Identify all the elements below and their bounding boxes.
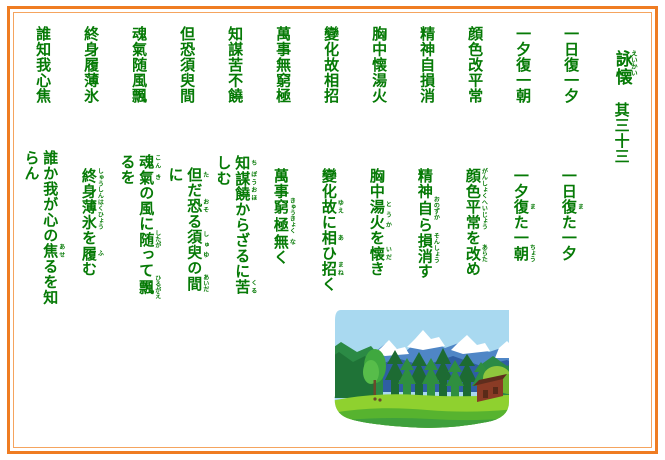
reading-text: るを (41, 259, 59, 290)
poem-line-column: 萬事無窮極萬事窮極きゅうきょく無なく (259, 16, 307, 306)
poem-line-reading: 精神自おのずから損消そんしょうす (415, 168, 439, 279)
reading-text: 萬事 (272, 168, 290, 199)
reading-text: って (137, 247, 155, 278)
poem-line-column: 精神自損消精神自おのずから損消そんしょうす (403, 16, 451, 306)
furigana: あせ (58, 243, 65, 259)
reading-text: る (185, 214, 203, 230)
poem-title-block: 詠懐 えいかい 其三十三 (595, 50, 647, 164)
reading-ruby-group: 魂こん (137, 154, 155, 170)
reading-text: く (272, 249, 290, 265)
furigana: おほ (250, 186, 257, 202)
poem-title: 詠懐 えいかい (611, 50, 631, 86)
furigana: まね (336, 261, 343, 277)
furigana: あいだ (202, 275, 209, 293)
reading-text: るを (119, 154, 137, 185)
poem-line-column: 一夕復一朝一夕復また一朝ちょう (499, 16, 547, 306)
furigana: きゅうきょく (288, 198, 295, 234)
poem-line-column: 終身履薄氷終身薄氷しゅうしんはくひょうを履ふむ (67, 16, 115, 306)
poem-line-original: 胸中懐湯火 (370, 26, 388, 136)
reading-text: からざるに (233, 202, 251, 280)
poem-line-original: 萬事無窮極 (274, 26, 292, 136)
poem-title-number: 其三十三 (612, 102, 629, 164)
poem-line-reading: 魂こん氣きの風に随したがって飄ひるがえるを (118, 154, 161, 306)
reading-text: を (368, 230, 386, 246)
reading-text: ひ (320, 246, 338, 262)
furigana: とうか (384, 199, 391, 230)
poem-line-reading: 顔色がんしょく平常へいじょうを改あらため (463, 168, 487, 277)
furigana: おのずか (432, 196, 439, 220)
poem-line-column: 顔色改平常顔色がんしょく平常へいじょうを改あらため (451, 16, 499, 306)
reading-text: 精神 (416, 168, 434, 199)
reading-text: た一夕 (560, 215, 578, 262)
poem-columns: 詠懐 えいかい 其三十三 一日復一夕一日復また一夕一夕復一朝一夕復また一朝ちょう… (16, 16, 649, 316)
poem-line-reading: 變化故ゆえに相あひ招まねく (319, 168, 343, 292)
poem-line-column: 一日復一夕一日復また一夕 (547, 16, 595, 306)
furigana: がんしょく (480, 168, 487, 199)
reading-text: 胸中 (368, 168, 386, 199)
reading-ruby-group: 顔色がんしょく (464, 168, 482, 199)
poem-line-reading: 終身薄氷しゅうしんはくひょうを履ふむ (79, 168, 103, 277)
furigana: おそ (202, 198, 209, 214)
poem-line-original: 知謀苦不饒 (226, 26, 244, 123)
poem-page: 詠懐 えいかい 其三十三 一日復一夕一日復また一夕一夕復一朝一夕復また一朝ちょう… (0, 0, 665, 460)
poem-line-original: 精神自損消 (418, 26, 436, 136)
reading-ruby-group: 湯火とうか (368, 199, 386, 230)
reading-text: 一夕 (512, 168, 530, 199)
reading-text: 誰か我が心の (41, 150, 59, 243)
poem-line-original: 變化故相招 (322, 26, 340, 136)
reading-text: の (185, 260, 203, 276)
poem-line-reading: 但ただ恐おそる須臾しゅゆの間あいだに (166, 167, 209, 306)
furigana: しゅゆ (202, 229, 209, 260)
reading-text: しむ (215, 155, 233, 186)
poem-line-column: 但恐須臾間但ただ恐おそる須臾しゅゆの間あいだに (163, 16, 211, 306)
furigana: ゆえ (336, 199, 343, 215)
furigana: しゅうしんはくひょう (96, 168, 103, 230)
furigana: ち (250, 155, 257, 171)
poem-line-reading: 萬事窮極きゅうきょく無なく (271, 168, 295, 265)
furigana: き (154, 170, 161, 186)
reading-ruby-group: 苦くる (233, 279, 251, 295)
reading-text: め (464, 261, 482, 277)
poem-title-ruby: えいかい (629, 50, 636, 76)
furigana: あらた (480, 244, 487, 262)
poem-line-column: 魂氣随風飄魂こん氣きの風に随したがって飄ひるがえるを (115, 16, 163, 306)
poem-line-reading: 誰か我が心の焦あせるを知らん (22, 150, 65, 306)
reading-ruby-group: 朝ちょう (512, 246, 530, 263)
poem-line-reading: 胸中湯火とうかを懐いだき (367, 168, 391, 277)
poem-line-column: 誰知我心焦誰か我が心の焦あせるを知らん (19, 16, 67, 306)
reading-text: 一日 (560, 168, 578, 199)
reading-ruby-group: 恐おそ (185, 198, 203, 214)
poem-line-original: 誰知我心焦 (34, 26, 52, 118)
poem-line-column: 變化故相招變化故ゆえに相あひ招まねく (307, 16, 355, 306)
reading-ruby-group: 招まね (320, 261, 338, 277)
reading-ruby-group: 無な (272, 234, 290, 250)
reading-ruby-group: 懐いだ (368, 246, 386, 262)
reading-ruby-group: 相あ (320, 230, 338, 246)
furigana: た (202, 167, 209, 183)
poem-line-original: 顔色改平常 (466, 26, 484, 136)
poem-line-original: 終身履薄氷 (82, 26, 100, 136)
reading-text: む (80, 261, 98, 277)
reading-text: の風に (137, 185, 155, 232)
reading-text: す (416, 264, 434, 280)
furigana: へいじょう (480, 199, 487, 230)
furigana: あ (336, 230, 343, 246)
poem-line-original: 一夕復一朝 (514, 26, 532, 136)
poem-line-reading: 知ち謀ぼう饒おほからざるに苦くるしむ (214, 155, 257, 306)
poem-line-original: 但恐須臾間 (178, 26, 196, 135)
reading-ruby-group: 履ふ (80, 246, 98, 262)
furigana: いだ (384, 246, 391, 262)
reading-ruby-group: 復ま (512, 199, 530, 215)
reading-ruby-group: 自おのずか (416, 199, 434, 217)
reading-ruby-group: 故ゆえ (320, 199, 338, 215)
reading-ruby-group: 飄ひるがえ (137, 278, 155, 296)
reading-text: を (80, 230, 98, 246)
poem-line-reading: 一日復また一夕 (559, 168, 583, 261)
reading-ruby-group: 窮極きゅうきょく (272, 199, 290, 234)
mountain-landscape-illustration (327, 306, 523, 430)
reading-ruby-group: 謀ぼう (233, 171, 251, 187)
reading-ruby-group: 復ま (560, 199, 578, 215)
reading-ruby-group: 知ち (233, 155, 251, 171)
reading-ruby-group: 損消そんしょう (416, 233, 434, 264)
reading-ruby-group: 随したが (137, 232, 155, 248)
reading-text: た一 (512, 215, 530, 246)
poem-line-original: 魂氣随風飄 (130, 26, 148, 122)
furigana: したが (154, 231, 161, 249)
poem-line-column: 胸中懐湯火胸中湯火とうかを懐いだき (355, 16, 403, 306)
reading-ruby-group: 氣き (137, 170, 155, 186)
furigana: ま (528, 199, 535, 215)
reading-text: 變化 (320, 168, 338, 199)
furigana: ま (576, 199, 583, 215)
furigana: そんしょう (432, 233, 439, 264)
poem-line-original: 一日復一夕 (562, 26, 580, 136)
reading-ruby-group: 但た (185, 167, 203, 183)
reading-text: だ (185, 183, 203, 199)
furigana: くる (250, 279, 257, 295)
reading-ruby-group: 改あらた (464, 246, 482, 262)
reading-text: き (368, 261, 386, 277)
reading-ruby-group: 須臾しゅゆ (185, 229, 203, 260)
furigana: こん (154, 154, 161, 170)
reading-ruby-group: 饒おほ (233, 186, 251, 202)
reading-text: く (320, 277, 338, 293)
poem-line-column: 知謀苦不饒知ち謀ぼう饒おほからざるに苦くるしむ (211, 16, 259, 306)
reading-text: に (167, 167, 185, 183)
reading-text: に (320, 215, 338, 231)
furigana: ひるがえ (154, 275, 161, 299)
reading-ruby-group: 間あいだ (185, 276, 203, 292)
reading-ruby-group: 終身薄氷しゅうしんはくひょう (80, 168, 98, 230)
furigana: な (288, 234, 295, 250)
poem-line-reading: 一夕復また一朝ちょう (511, 168, 535, 262)
reading-ruby-group: 平常へいじょう (464, 199, 482, 230)
furigana: ふ (96, 246, 103, 262)
reading-ruby-group: 焦あせ (41, 243, 59, 259)
furigana: ぼう (250, 171, 257, 187)
furigana: ちょう (528, 244, 535, 262)
